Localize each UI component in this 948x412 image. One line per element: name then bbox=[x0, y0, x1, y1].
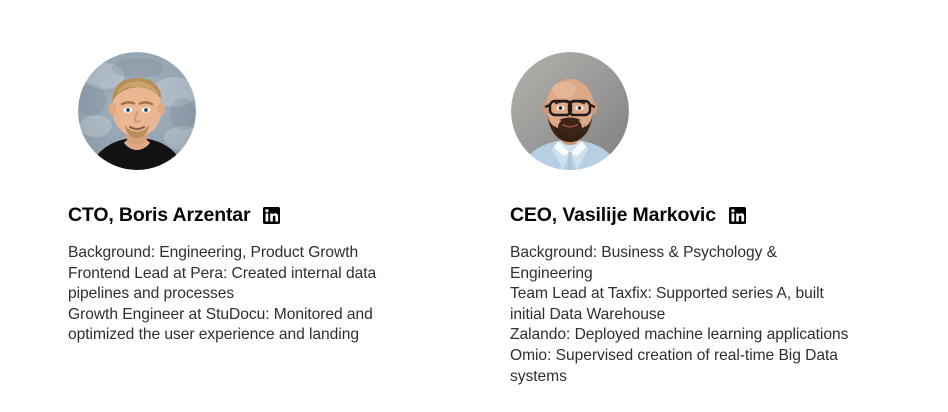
person-name: CTO, Boris Arzentar bbox=[68, 204, 250, 227]
avatar-vasilije-markovic bbox=[511, 52, 629, 170]
profile-card-boris-arzentar: CTO, Boris Arzentar Background: Engineer… bbox=[68, 0, 488, 346]
linkedin-icon[interactable] bbox=[263, 207, 280, 224]
bio-line: Zalando: Deployed machine learning appli… bbox=[510, 325, 862, 346]
bio-line: Background: Business & Psychology & Engi… bbox=[510, 243, 862, 284]
profile-bio: Background: Engineering, Product Growth … bbox=[68, 243, 413, 346]
avatar-boris-arzentar bbox=[78, 52, 196, 170]
person-name: CEO, Vasilije Markovic bbox=[510, 204, 716, 227]
team-profiles-section: CTO, Boris Arzentar Background: Engineer… bbox=[0, 0, 948, 412]
bio-line: Background: Engineering, Product Growth bbox=[68, 243, 413, 264]
profile-name-row: CEO, Vasilije Markovic bbox=[510, 204, 930, 227]
bio-line: Team Lead at Taxfix: Supported series A,… bbox=[510, 284, 862, 325]
linkedin-icon[interactable] bbox=[729, 207, 746, 224]
bio-line: Omio: Supervised creation of real-time B… bbox=[510, 346, 862, 387]
bio-line: Frontend Lead at Pera: Created internal … bbox=[68, 264, 413, 305]
profile-name-row: CTO, Boris Arzentar bbox=[68, 204, 488, 227]
bio-line: Growth Engineer at StuDocu: Monitored an… bbox=[68, 305, 413, 346]
profile-card-vasilije-markovic: CEO, Vasilije Markovic Background: Busin… bbox=[510, 0, 930, 387]
profile-bio: Background: Business & Psychology & Engi… bbox=[510, 243, 862, 387]
